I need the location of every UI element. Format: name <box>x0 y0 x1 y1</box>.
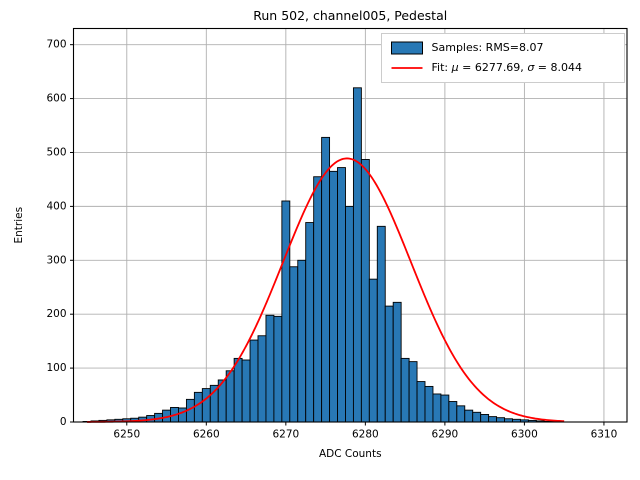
x-tick-labels: 6250626062706280629063006310 <box>113 429 617 441</box>
histogram-bar <box>473 412 481 422</box>
y-axis-label: Entries <box>13 207 25 244</box>
y-tick-label: 100 <box>46 362 66 374</box>
histogram-bar <box>290 267 298 422</box>
histogram-bar <box>361 159 369 422</box>
histogram-bar <box>449 402 457 422</box>
histogram-bar <box>417 382 425 422</box>
histogram-bar <box>194 392 202 422</box>
histogram-bar <box>353 88 361 422</box>
histogram-bar <box>497 418 505 422</box>
x-axis-label: ADC Counts <box>319 448 382 460</box>
histogram-bar <box>274 316 282 422</box>
x-tick-label: 6300 <box>511 429 538 441</box>
legend-samples-label: Samples: RMS=8.07 <box>432 41 544 54</box>
histogram-bar <box>369 279 377 422</box>
legend[interactable]: Samples: RMS=8.07 Fit: μ = 6277.69, σ = … <box>382 34 625 83</box>
legend-fit-label: Fit: μ = 6277.69, σ = 8.044 <box>432 61 583 74</box>
histogram-bar <box>242 360 250 422</box>
histogram-bar <box>202 389 210 422</box>
histogram-bar <box>457 406 465 422</box>
y-tick-labels: 0100200300400500600700 <box>46 39 66 428</box>
y-tick-label: 400 <box>46 200 66 212</box>
y-tick-label: 500 <box>46 146 66 158</box>
histogram-bar <box>314 177 322 422</box>
histogram-bar <box>345 206 353 422</box>
histogram-bar <box>441 395 449 422</box>
histogram-bar <box>409 362 417 422</box>
histogram-bar <box>489 417 497 422</box>
x-tick-label: 6290 <box>432 429 459 441</box>
histogram-bar <box>266 315 274 422</box>
histogram-bar <box>338 168 346 422</box>
y-tick-label: 300 <box>46 254 66 266</box>
histogram-bar <box>298 260 306 422</box>
legend-samples-swatch <box>392 42 423 54</box>
histogram-bar <box>322 137 330 422</box>
histogram-bar <box>481 414 489 422</box>
x-tick-label: 6270 <box>272 429 299 441</box>
histogram-bar <box>306 223 314 422</box>
histogram-bar <box>330 171 338 422</box>
x-tick-label: 6250 <box>113 429 140 441</box>
histogram-chart: 6250626062706280629063006310 01002003004… <box>0 0 640 480</box>
y-tick-label: 700 <box>46 39 66 51</box>
histogram-bar <box>234 358 242 422</box>
histogram-bar <box>282 201 290 422</box>
figure-canvas: 6250626062706280629063006310 01002003004… <box>0 0 640 480</box>
y-tick-label: 0 <box>60 416 67 428</box>
y-tick-label: 600 <box>46 93 66 105</box>
x-tick-label: 6280 <box>352 429 379 441</box>
histogram-bar <box>250 340 258 422</box>
x-tick-label: 6310 <box>591 429 618 441</box>
chart-title: Run 502, channel005, Pedestal <box>253 8 447 23</box>
histogram-bar <box>178 408 186 422</box>
histogram-bar <box>377 226 385 422</box>
y-tick-label: 200 <box>46 308 66 320</box>
histogram-bar <box>258 336 266 422</box>
histogram-bar <box>401 358 409 422</box>
histogram-bar <box>433 394 441 422</box>
histogram-bar <box>393 302 401 422</box>
x-tick-label: 6260 <box>193 429 220 441</box>
histogram-bar <box>465 410 473 422</box>
histogram-bar <box>226 371 234 422</box>
histogram-bar <box>425 386 433 422</box>
histogram-bar <box>385 306 393 422</box>
